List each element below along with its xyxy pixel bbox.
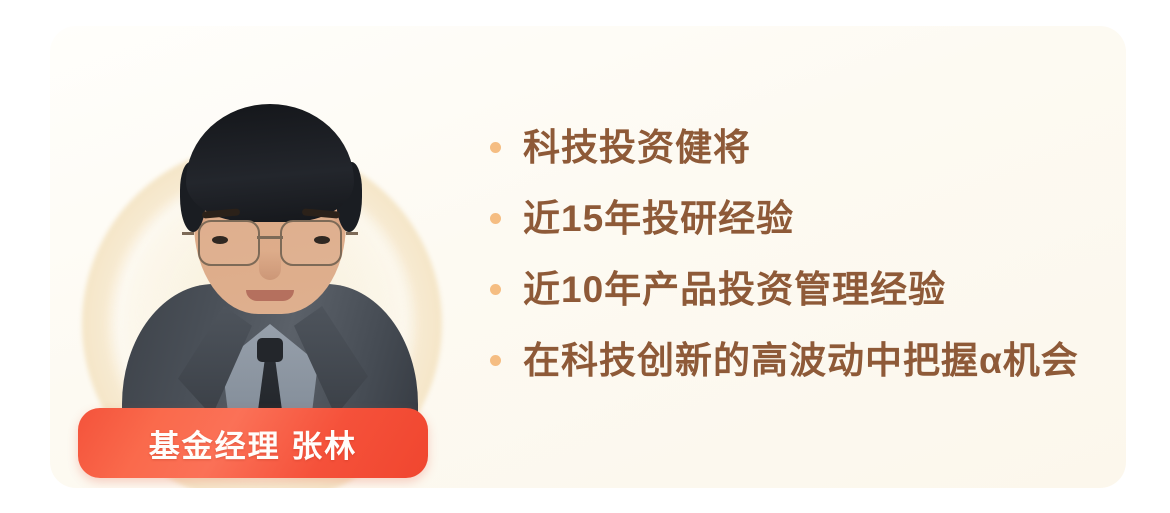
portrait-block: 基金经理 张林 — [60, 26, 480, 488]
glasses-lens-right — [280, 220, 342, 266]
list-item: 科技投资健将 — [490, 112, 1110, 183]
bullet-dot-icon — [490, 284, 501, 295]
hair-shape — [186, 104, 354, 222]
fund-manager-name-label: 基金经理 张林 — [149, 421, 358, 466]
nose-shape — [259, 250, 281, 280]
glasses-lens-left — [198, 220, 260, 266]
highlight-text: 近15年投研经验 — [523, 200, 794, 237]
highlight-text: 在科技创新的高波动中把握α机会 — [523, 342, 1079, 379]
bullet-dot-icon — [490, 213, 501, 224]
tie-knot-shape — [257, 338, 283, 362]
profile-banner: 基金经理 张林 科技投资健将 近15年投研经验 近10年产品投资管理经验 在科技… — [0, 0, 1170, 513]
list-item: 近15年投研经验 — [490, 183, 1110, 254]
bullet-dot-icon — [490, 355, 501, 366]
glasses-temple-right — [346, 232, 358, 235]
list-item: 在科技创新的高波动中把握α机会 — [490, 325, 1110, 396]
highlight-text: 近10年产品投资管理经验 — [523, 271, 946, 308]
highlight-text: 科技投资健将 — [523, 129, 751, 166]
list-item: 近10年产品投资管理经验 — [490, 254, 1110, 325]
bullet-dot-icon — [490, 142, 501, 153]
mouth-shape — [246, 290, 294, 301]
glasses-temple-left — [182, 232, 194, 235]
fund-manager-name-badge: 基金经理 张林 — [78, 408, 428, 478]
highlights-list: 科技投资健将 近15年投研经验 近10年产品投资管理经验 在科技创新的高波动中把… — [490, 112, 1110, 396]
glasses-bridge — [257, 236, 283, 239]
fund-manager-card: 基金经理 张林 科技投资健将 近15年投研经验 近10年产品投资管理经验 在科技… — [50, 26, 1126, 488]
